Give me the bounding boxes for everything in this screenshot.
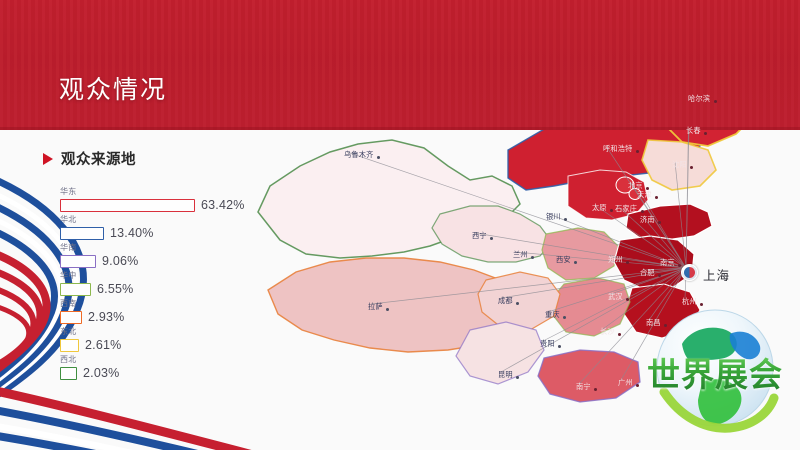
city-label: 广州 bbox=[618, 378, 633, 388]
city-label: 昆明 bbox=[498, 370, 513, 380]
bar-row: 东北2.61% bbox=[60, 326, 121, 352]
bar-fill bbox=[60, 283, 91, 296]
banner-red-tint bbox=[0, 0, 800, 130]
bar-category-label: 华南 bbox=[60, 242, 138, 253]
bar-category-label: 西北 bbox=[60, 354, 119, 365]
city-label: 长春 bbox=[686, 126, 701, 136]
province-shaanxi-henan bbox=[542, 228, 618, 280]
city-label: 银川 bbox=[546, 212, 561, 222]
city-label: 贵阳 bbox=[540, 339, 555, 349]
slide-canvas: 观众情况 乌鲁木齐哈尔滨长春沈阳呼和浩特北京天津石家庄太原济南银川西宁兰州西安郑… bbox=[0, 0, 800, 450]
header-banner bbox=[0, 0, 800, 130]
bar-category-label: 东北 bbox=[60, 326, 121, 337]
city-label: 长沙 bbox=[600, 327, 615, 337]
city-label: 南京 bbox=[660, 258, 675, 268]
bar-value-label: 13.40% bbox=[110, 226, 154, 240]
city-label: 石家庄 bbox=[615, 204, 637, 214]
bar-row: 西北2.03% bbox=[60, 354, 119, 380]
bar-fill bbox=[60, 367, 77, 380]
bar-row: 西南2.93% bbox=[60, 298, 124, 324]
bar-fill bbox=[60, 199, 195, 212]
city-label: 兰州 bbox=[513, 250, 528, 260]
bar-fill bbox=[60, 311, 82, 324]
bar-fill bbox=[60, 255, 96, 268]
bar-row: 华中6.55% bbox=[60, 270, 133, 296]
city-label: 乌鲁木齐 bbox=[344, 150, 374, 160]
bar-value-label: 2.93% bbox=[88, 310, 124, 324]
shanghai-marker-icon bbox=[681, 264, 698, 281]
city-label: 西安 bbox=[556, 255, 571, 265]
city-label: 成都 bbox=[498, 296, 513, 306]
bar-value-label: 2.03% bbox=[83, 366, 119, 380]
province-guangxi-guangdong bbox=[538, 350, 640, 402]
city-label: 太原 bbox=[592, 203, 607, 213]
bar-row: 华南9.06% bbox=[60, 242, 138, 268]
bar-value-label: 6.55% bbox=[97, 282, 133, 296]
section-title-text: 观众来源地 bbox=[61, 148, 136, 169]
city-label: 哈尔滨 bbox=[688, 94, 710, 104]
brand-logo: 世界展会 bbox=[640, 300, 790, 440]
bar-category-label: 西南 bbox=[60, 298, 124, 309]
section-heading: 观众来源地 bbox=[43, 148, 136, 169]
bar-value-label: 63.42% bbox=[201, 198, 245, 212]
city-label: 呼和浩特 bbox=[603, 144, 633, 154]
shanghai-label: 上海 bbox=[703, 265, 730, 284]
city-label: 济南 bbox=[640, 215, 655, 225]
city-label: 南宁 bbox=[576, 382, 591, 392]
city-label: 天津 bbox=[637, 190, 652, 200]
bar-value-label: 9.06% bbox=[102, 254, 138, 268]
triangle-marker-icon bbox=[43, 153, 53, 165]
city-label: 沈阳 bbox=[672, 160, 687, 170]
city-label: 重庆 bbox=[545, 310, 560, 320]
city-label: 合肥 bbox=[640, 268, 655, 278]
logo-text: 世界展会 bbox=[640, 348, 790, 396]
city-label: 拉萨 bbox=[368, 302, 383, 312]
bar-category-label: 华北 bbox=[60, 214, 154, 225]
bar-category-label: 华东 bbox=[60, 186, 245, 197]
city-label: 西宁 bbox=[472, 231, 487, 241]
city-label: 武汉 bbox=[608, 292, 623, 302]
page-title: 观众情况 bbox=[59, 70, 167, 106]
city-label: 郑州 bbox=[608, 255, 623, 265]
banner-divider bbox=[0, 127, 800, 130]
bar-value-label: 2.61% bbox=[85, 338, 121, 352]
bar-row: 华东63.42% bbox=[60, 186, 245, 212]
bar-row: 华北13.40% bbox=[60, 214, 154, 240]
bar-fill bbox=[60, 339, 79, 352]
bar-fill bbox=[60, 227, 104, 240]
bar-category-label: 华中 bbox=[60, 270, 133, 281]
